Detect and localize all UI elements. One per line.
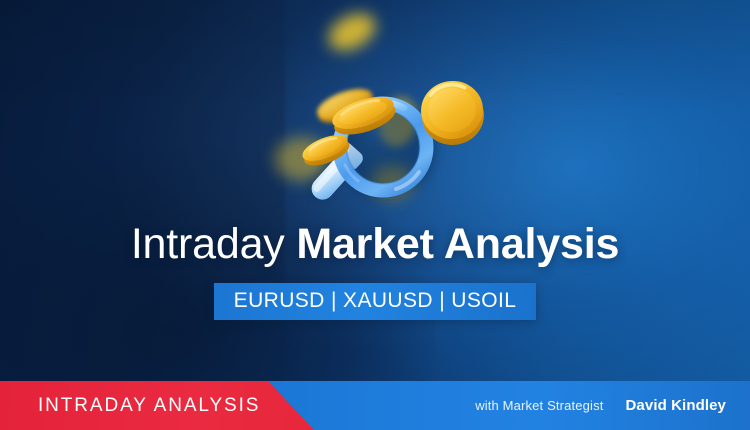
instruments-badge-row: EURUSD | XAUUSD | USOIL [0, 283, 750, 320]
headline-bold-text: Market Analysis [296, 220, 619, 268]
instruments-badge: EURUSD | XAUUSD | USOIL [214, 283, 537, 320]
page-title: Intraday Market Analysis [0, 218, 750, 270]
analyst-name: David Kindley [626, 397, 727, 414]
bottom-bar: INTRADAY ANALYSIS with Market Strategist… [0, 381, 750, 430]
headline-light-text: Intraday [131, 220, 297, 268]
intraday-market-analysis-banner: Intraday Market Analysis EURUSD | XAUUSD… [0, 0, 750, 430]
credit-prefix: with Market Strategist [475, 398, 603, 413]
analyst-credit: with Market Strategist David Kindley [475, 381, 726, 430]
category-label: INTRADAY ANALYSIS [38, 381, 260, 430]
background-vignette [0, 0, 750, 430]
headline-block: Intraday Market Analysis [0, 218, 750, 270]
